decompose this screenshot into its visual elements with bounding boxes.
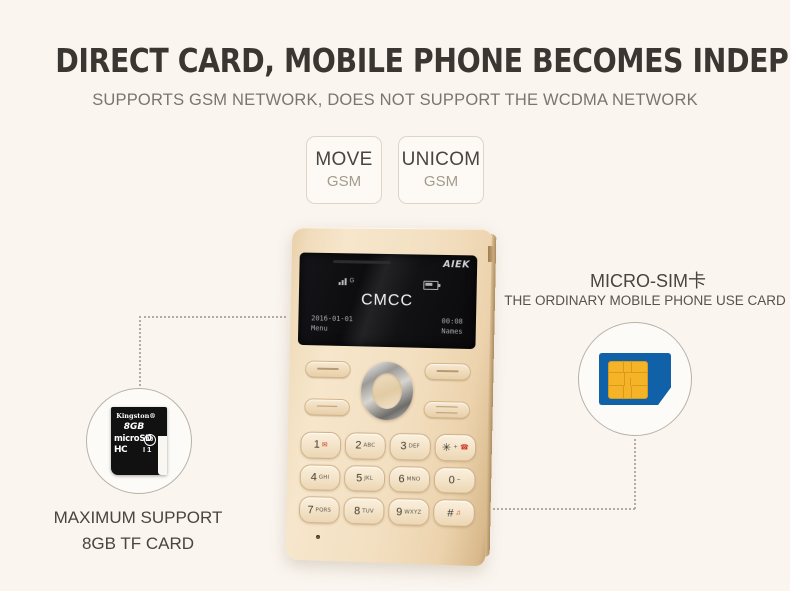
sim-card-callout-circle <box>578 322 692 436</box>
sd-type-suffix-label: HC <box>114 445 127 455</box>
key-letters: MNO <box>407 476 421 482</box>
key-letters: ⌣ <box>457 477 461 484</box>
key-number: 9 <box>396 506 402 518</box>
key-letters: PQRS <box>316 507 332 513</box>
signal-bars-icon: G <box>339 278 355 285</box>
key-1[interactable]: 1 ✉ <box>300 431 341 458</box>
sim-chip-icon <box>608 361 648 399</box>
tf-caption-line1: MAXIMUM SUPPORT <box>16 505 260 531</box>
end-call-key[interactable] <box>423 401 470 419</box>
music-note-icon: ♫ <box>455 510 460 517</box>
navigation-cluster <box>298 356 477 428</box>
key-6[interactable]: 6 MNO <box>389 466 431 494</box>
key-4[interactable]: 4 GHI <box>300 464 341 491</box>
page-title: DIRECT CARD, MOBILE PHONE BECOMES INDEPE… <box>55 41 734 80</box>
screen-time: 00:08 <box>442 317 463 326</box>
network-badge-unicom: UNICOM GSM <box>398 136 484 204</box>
key-9[interactable]: 9 WXYZ <box>388 498 430 526</box>
sd-brand-label: Kingston® <box>111 412 161 420</box>
badge-name: UNICOM <box>402 150 481 171</box>
key-letters: ABC <box>363 443 375 449</box>
key-number: ✳ <box>442 441 452 454</box>
network-badge-group: MOVE GSM UNICOM GSM <box>0 136 790 204</box>
sim-callout-subtitle: THE ORDINARY MOBILE PHONE USE CARD <box>500 293 790 308</box>
badge-standard: GSM <box>424 174 458 191</box>
key-letters: + <box>453 445 458 451</box>
connector-line-tf-horizontal <box>139 316 286 319</box>
key-hash[interactable]: # ♫ <box>433 499 475 527</box>
sd-uhs-label: I 1 <box>143 445 151 454</box>
tf-card-callout-circle: Kingston® 8GB microSD 10 HC I 1 <box>86 388 192 494</box>
microphone-hole <box>316 535 320 539</box>
left-soft-key[interactable] <box>305 360 351 378</box>
right-soft-key[interactable] <box>424 363 471 381</box>
connector-line-tf-vertical <box>139 316 142 390</box>
screen-softkey-row: Menu Names <box>311 324 463 336</box>
phone-side-button <box>488 246 494 262</box>
earpiece-slot <box>333 260 391 264</box>
key-letters: WXYZ <box>404 509 421 515</box>
key-7[interactable]: 7 PQRS <box>299 496 340 523</box>
key-number: 6 <box>398 473 404 485</box>
brand-logo: AIEK <box>443 259 470 271</box>
tf-card-caption: MAXIMUM SUPPORT 8GB TF CARD <box>16 505 260 557</box>
phone-product-image: AIEK G CMCC 2016-01-01 00:08 Menu Names <box>288 228 488 563</box>
poster-stage: DIRECT CARD, MOBILE PHONE BECOMES INDEPE… <box>0 0 790 591</box>
key-number: 7 <box>307 504 313 516</box>
dpad-ring[interactable] <box>361 362 414 421</box>
key-8[interactable]: 8 TUV <box>343 497 384 525</box>
carrier-name: CMCC <box>299 290 477 312</box>
key-number: 2 <box>355 440 361 452</box>
key-number: # <box>447 507 453 519</box>
key-0[interactable]: 0 ⌣ <box>434 467 476 495</box>
call-key[interactable] <box>304 398 350 416</box>
softkey-label-left: Menu <box>311 324 328 332</box>
key-letters: GHI <box>319 475 330 481</box>
network-badge-move: MOVE GSM <box>306 136 382 204</box>
sd-capacity-label: 8GB <box>111 422 157 432</box>
badge-name: MOVE <box>315 150 372 171</box>
key-3[interactable]: 3 DEF <box>389 433 431 460</box>
key-number: 5 <box>356 472 362 484</box>
battery-icon <box>423 281 438 290</box>
network-type-label: G <box>350 278 355 285</box>
key-letters: TUV <box>362 508 374 514</box>
call-handset-icon: ☎ <box>460 444 469 452</box>
key-letters: JKL <box>364 476 373 482</box>
connector-line-sim-horizontal <box>493 508 635 511</box>
badge-standard: GSM <box>327 174 361 191</box>
envelope-icon: ✉ <box>322 441 328 449</box>
phone-keypad: 1 ✉ 2 ABC 3 DEF ✳ + ☎ 4 GHI 5 JKL <box>299 431 476 527</box>
screen-date: 2016-01-01 <box>311 314 353 323</box>
key-star[interactable]: ✳ + ☎ <box>434 434 476 462</box>
microsd-card-image: Kingston® 8GB microSD 10 HC I 1 <box>111 407 167 475</box>
key-number: 8 <box>354 505 360 517</box>
key-number: 4 <box>311 471 317 483</box>
micro-sim-card-image <box>599 353 671 405</box>
key-letters: DEF <box>408 444 420 450</box>
key-5[interactable]: 5 JKL <box>344 465 385 492</box>
tf-caption-line2: 8GB TF CARD <box>16 531 260 557</box>
sim-callout-title: MICRO-SIM卡 <box>520 267 776 293</box>
key-number: 3 <box>400 441 406 453</box>
dpad-center-button[interactable] <box>372 373 403 410</box>
key-2[interactable]: 2 ABC <box>345 432 386 459</box>
key-number: 0 <box>449 474 455 486</box>
phone-screen: AIEK G CMCC 2016-01-01 00:08 Menu Names <box>298 252 477 349</box>
page-subtitle: SUPPORTS GSM NETWORK, DOES NOT SUPPORT T… <box>0 91 790 110</box>
key-number: 1 <box>314 439 320 451</box>
screen-status-bar: G <box>299 275 477 290</box>
connector-line-sim-vertical <box>634 434 637 509</box>
softkey-label-right: Names <box>441 327 462 336</box>
